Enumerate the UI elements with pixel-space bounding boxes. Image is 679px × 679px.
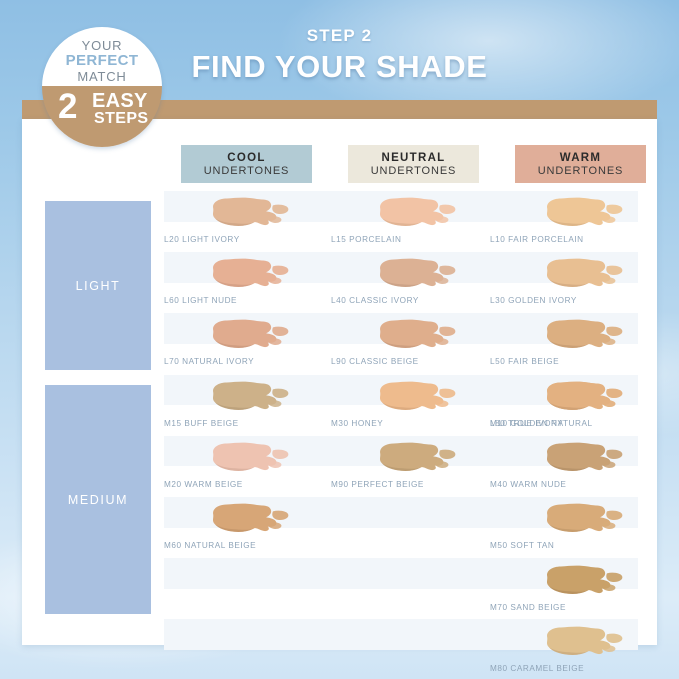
shade-label: M80 CARAMEL BEIGE <box>490 664 625 673</box>
shade-label: M40 WARM NUDE <box>490 480 625 489</box>
shade-swatch-icon <box>542 625 624 659</box>
shade-cell[interactable]: L15 PORCELAIN <box>331 196 466 244</box>
shade-label: M20 WARM BEIGE <box>164 480 299 489</box>
shade-swatch-icon <box>208 196 290 230</box>
shade-swatch-icon <box>208 502 290 536</box>
shade-swatch-icon <box>208 318 290 352</box>
shade-label: L30 GOLDEN IVORY <box>490 296 625 305</box>
shade-swatch-icon <box>542 380 624 414</box>
shade-cell[interactable]: L30 GOLDEN IVORY <box>498 257 633 305</box>
shade-cell[interactable]: L50 FAIR BEIGE <box>498 318 633 366</box>
shade-label: M10 GOLDEN NATURAL <box>490 419 625 428</box>
shade-label: M70 SAND BEIGE <box>490 603 625 612</box>
shade-cell[interactable]: M15 BUFF BEIGE <box>164 380 299 428</box>
shade-swatch-icon <box>208 441 290 475</box>
shade-swatch-icon <box>542 196 624 230</box>
shade-grid: L20 LIGHT IVORYL15 PORCELAINL10 FAIR POR… <box>0 0 679 679</box>
shade-swatch-icon <box>375 196 457 230</box>
shade-label: M50 SOFT TAN <box>490 541 625 550</box>
shade-label: L20 LIGHT IVORY <box>164 235 299 244</box>
shade-cell[interactable]: L60 LIGHT NUDE <box>164 257 299 305</box>
shade-cell[interactable]: M40 WARM NUDE <box>498 441 633 489</box>
shade-swatch-icon <box>208 380 290 414</box>
shade-cell[interactable]: M70 SAND BEIGE <box>498 564 633 612</box>
shade-label: M60 NATURAL BEIGE <box>164 541 299 550</box>
shade-swatch-icon <box>208 257 290 291</box>
shade-swatch-icon <box>542 564 624 598</box>
shade-cell[interactable]: L10 FAIR PORCELAIN <box>498 196 633 244</box>
shade-label: M30 HONEY <box>331 419 466 428</box>
shade-label: L10 FAIR PORCELAIN <box>490 235 625 244</box>
shade-swatch-icon <box>542 257 624 291</box>
shade-cell[interactable]: L40 CLASSIC IVORY <box>331 257 466 305</box>
shade-cell[interactable]: M30 HONEY <box>331 380 466 428</box>
shade-cell[interactable]: M80 CARAMEL BEIGE <box>498 625 633 673</box>
shade-cell[interactable]: L20 LIGHT IVORY <box>164 196 299 244</box>
shade-label: L50 FAIR BEIGE <box>490 357 625 366</box>
shade-cell[interactable]: M20 WARM BEIGE <box>164 441 299 489</box>
shade-cell[interactable]: L90 CLASSIC BEIGE <box>331 318 466 366</box>
shade-label: L70 NATURAL IVORY <box>164 357 299 366</box>
shade-swatch-icon <box>542 441 624 475</box>
shade-label: L60 LIGHT NUDE <box>164 296 299 305</box>
shade-swatch-icon <box>542 318 624 352</box>
shade-cell[interactable]: L70 NATURAL IVORY <box>164 318 299 366</box>
shade-finder-page: STEP 2 FIND YOUR SHADE YOUR PERFECT MATC… <box>0 0 679 679</box>
shade-cell[interactable]: M90 PERFECT BEIGE <box>331 441 466 489</box>
shade-label: L40 CLASSIC IVORY <box>331 296 466 305</box>
shade-label: L15 PORCELAIN <box>331 235 466 244</box>
shade-swatch-icon <box>375 380 457 414</box>
shade-label: M90 PERFECT BEIGE <box>331 480 466 489</box>
shade-swatch-icon <box>375 318 457 352</box>
shade-swatch-icon <box>375 257 457 291</box>
shade-label: L90 CLASSIC BEIGE <box>331 357 466 366</box>
shade-swatch-icon <box>542 502 624 536</box>
shade-swatch-icon <box>375 441 457 475</box>
shade-cell[interactable]: M10 GOLDEN NATURAL <box>498 380 633 428</box>
shade-label: M15 BUFF BEIGE <box>164 419 299 428</box>
shade-cell[interactable]: M60 NATURAL BEIGE <box>164 502 299 550</box>
shade-cell[interactable]: M50 SOFT TAN <box>498 502 633 550</box>
